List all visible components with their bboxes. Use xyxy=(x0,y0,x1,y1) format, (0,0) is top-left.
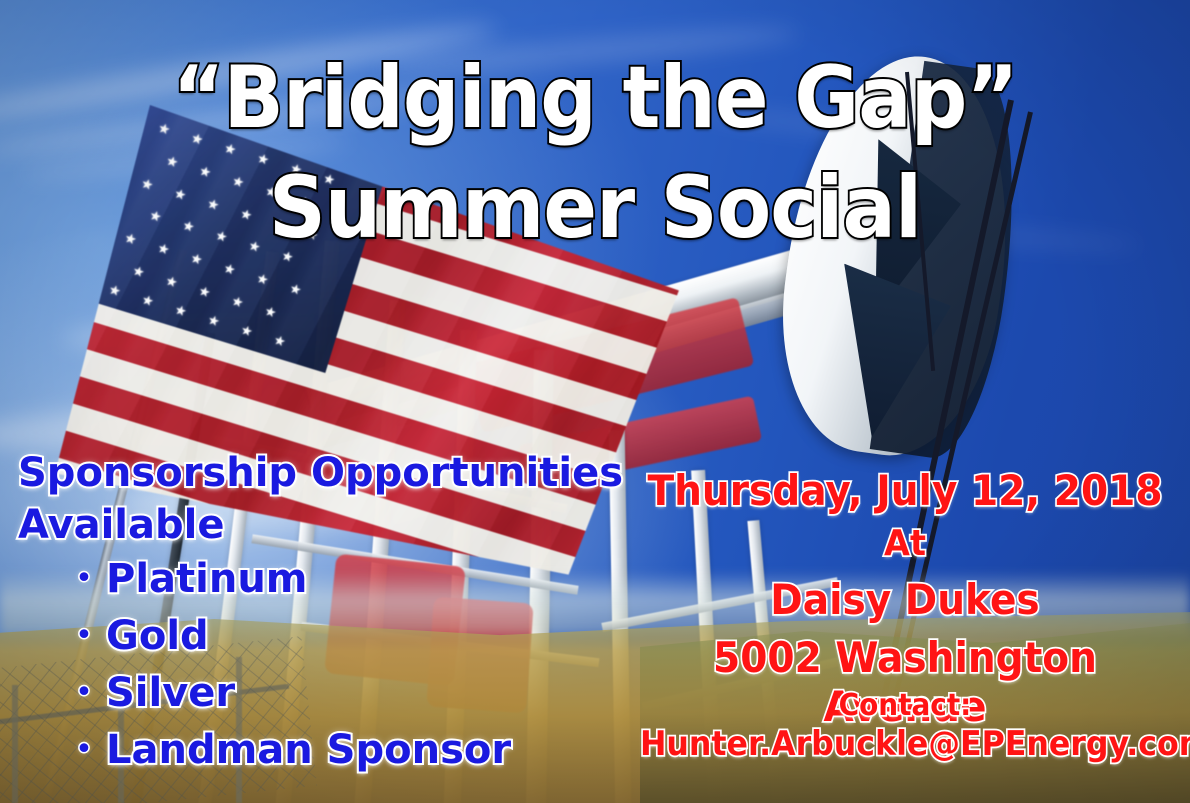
event-flyer: ★ ★ ★ ★ ★ ★ ★ ★ ★ ★ ★ ★ ★ ★ ★ ★ ★ xyxy=(0,0,1190,803)
sponsorship-tier-label: Platinum xyxy=(106,556,307,602)
sponsorship-tier-label: Landman Sponsor xyxy=(106,727,511,773)
sponsorship-tier-item: • Gold xyxy=(62,613,209,659)
flyer-title-line-1: “Bridging the Gap” xyxy=(48,48,1143,148)
sponsorship-tier-item: • Landman Sponsor xyxy=(62,727,511,773)
event-venue-name: Daisy Dukes xyxy=(640,575,1170,624)
contact-email[interactable]: Hunter.Arbuckle@EPEnergy.com xyxy=(640,724,1170,764)
flyer-title-line-2: Summer Social xyxy=(48,158,1143,258)
bullet-icon: • xyxy=(62,678,106,708)
sponsorship-tier-item: • Silver xyxy=(62,670,235,716)
sponsorship-heading-line-1: Sponsorship Opportunities xyxy=(18,450,623,496)
sponsorship-tier-label: Gold xyxy=(106,613,209,659)
event-date: Thursday, July 12, 2018 xyxy=(640,466,1170,515)
event-at-label: At xyxy=(640,523,1170,564)
contact-label: Contact: xyxy=(640,688,1170,723)
sponsorship-tier-item: • Platinum xyxy=(62,556,307,602)
bullet-icon: • xyxy=(62,564,106,594)
bullet-icon: • xyxy=(62,621,106,651)
sponsorship-tier-label: Silver xyxy=(106,670,235,716)
bullet-icon: • xyxy=(62,735,106,765)
sponsorship-heading-line-2: Available xyxy=(18,502,224,548)
